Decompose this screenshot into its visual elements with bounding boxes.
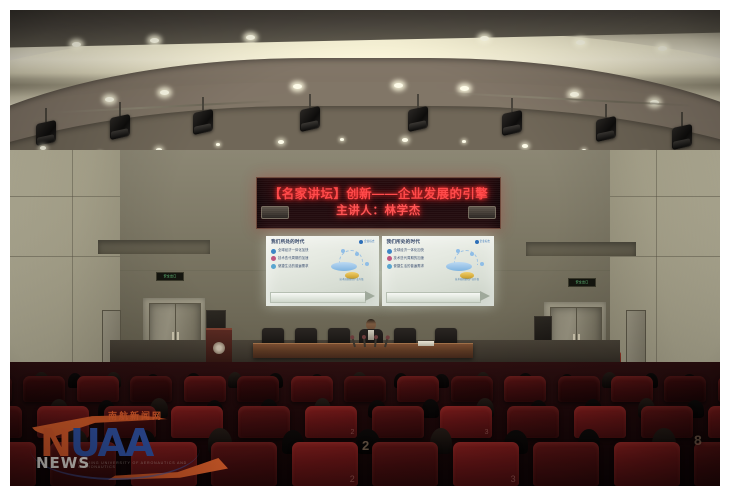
downlight-icon — [216, 143, 220, 146]
downlight-icon — [150, 38, 159, 43]
slide-diagram: 技术创新驱动产业升级 — [329, 248, 373, 282]
slide-logo-label: 企业标志 — [364, 241, 374, 244]
downlight-icon — [72, 42, 81, 47]
downlight-icon — [460, 86, 469, 91]
seat-number: 3 — [511, 475, 516, 484]
aisle-marker-right: 8 — [694, 432, 702, 448]
diagram-node — [470, 252, 474, 256]
seat[interactable] — [211, 442, 277, 486]
podium-emblem-icon — [213, 342, 225, 354]
bullet-text: 全球经济一体化加快 — [394, 249, 425, 252]
exit-sign-left: 安全出口 — [156, 272, 184, 281]
exit-sign-label: 安全出口 — [164, 275, 177, 278]
microphone-icon — [351, 337, 355, 347]
wall-seam — [600, 196, 720, 197]
diagram-ellipse — [446, 262, 472, 271]
bullet-icon — [271, 256, 276, 261]
spotlight-rod — [309, 94, 311, 108]
diagram-caption: 技术创新驱动产业升级 — [450, 278, 484, 281]
microphone-icon — [374, 337, 377, 347]
seat[interactable] — [694, 442, 720, 486]
downlight-icon — [246, 35, 255, 40]
bullet-text: 技术迭代周期的加速 — [394, 257, 425, 260]
arrow-shaft — [270, 292, 366, 303]
stage-spotlight — [36, 120, 56, 146]
ceiling — [10, 10, 720, 160]
logo-dot-icon — [475, 240, 479, 244]
downlight-icon — [105, 97, 114, 102]
diagram-node — [365, 262, 369, 266]
projection-screen-right: 我们所处的时代 企业标志 全球经济一体化加快 技术迭代周期的加速 — [382, 236, 495, 306]
downlight-icon — [462, 140, 466, 143]
banner-projector-right-icon — [468, 206, 496, 219]
wall-seam — [72, 150, 73, 380]
wall-recess-right — [526, 242, 636, 256]
photo-frame: 【名家讲坛】创新——企业发展的引擎 主讲人：林学杰 我们所处的时代 企业标志 全… — [0, 0, 730, 496]
seat[interactable] — [50, 442, 116, 486]
seat[interactable] — [131, 442, 197, 486]
downlight-icon — [340, 138, 344, 141]
aisle-marker-center: 2 — [362, 438, 369, 453]
stage-spotlight — [596, 116, 616, 142]
spotlight-rod — [605, 104, 607, 118]
led-banner-speaker: 主讲人：林学杰 — [336, 204, 421, 219]
downlight-icon — [570, 92, 579, 97]
wall-seam — [10, 256, 130, 257]
downlight-icon — [522, 144, 528, 148]
downlight-icon — [278, 140, 284, 144]
stage-spotlight — [502, 110, 522, 136]
led-banner: 【名家讲坛】创新——企业发展的引擎 主讲人：林学杰 — [256, 177, 501, 229]
bullet-text: 便捷生活的普遍需求 — [278, 265, 309, 268]
bullet-icon — [387, 264, 392, 269]
diagram-node — [355, 252, 359, 256]
downlight-icon — [402, 138, 408, 142]
seat[interactable]: 2 — [292, 442, 358, 486]
slide-title: 我们所处的时代 — [271, 240, 374, 245]
arrow-head-icon — [365, 291, 375, 301]
bullet-text: 便捷生活的普遍需求 — [394, 265, 425, 268]
wall-seam — [10, 196, 130, 197]
bullet-icon — [271, 249, 276, 254]
projection-screen-left: 我们所处的时代 企业标志 全球经济一体化加快 技术迭代周期的加速 — [266, 236, 379, 306]
spotlight-rod — [119, 102, 121, 116]
slide-logo-label: 企业标志 — [480, 241, 490, 244]
wall-recess-left — [98, 240, 210, 254]
microphone-cluster — [350, 335, 392, 347]
stage-spotlight — [672, 124, 692, 150]
spotlight-rod — [202, 97, 204, 111]
auditorium-photo: 【名家讲坛】创新——企业发展的引擎 主讲人：林学杰 我们所处的时代 企业标志 全… — [10, 10, 720, 486]
bullet-icon — [387, 249, 392, 254]
downlight-icon — [293, 84, 302, 89]
table-nameplate — [418, 341, 434, 346]
downlight-icon — [480, 36, 489, 41]
diagram-ellipse — [331, 262, 357, 271]
arrow-head-icon — [480, 291, 490, 301]
diagram-caption: 技术创新驱动产业升级 — [335, 278, 369, 281]
downlight-icon — [394, 83, 403, 88]
seat-number: 2 — [350, 475, 355, 484]
stage-spotlight — [110, 114, 130, 140]
slide-arrow-bar — [270, 291, 375, 302]
bullet-text: 全球经济一体化加快 — [278, 249, 309, 252]
bullet-text: 技术迭代周期的加速 — [278, 257, 309, 260]
wall-seam — [600, 256, 720, 257]
slide-logo: 企业标志 — [359, 240, 374, 244]
slide-arrow-bar — [386, 291, 491, 302]
projection-screens: 我们所处的时代 企业标志 全球经济一体化加快 技术迭代周期的加速 — [266, 236, 494, 306]
exit-sign-right: 安全出口 — [568, 278, 596, 287]
bullet-icon — [271, 264, 276, 269]
logo-dot-icon — [359, 240, 363, 244]
spotlight-rod — [681, 112, 683, 126]
bullet-icon — [387, 256, 392, 261]
spotlight-rod — [417, 94, 419, 108]
banner-projector-left-icon — [261, 206, 289, 219]
exit-sign-label: 安全出口 — [576, 281, 589, 284]
spotlight-rod — [511, 98, 513, 112]
auditorium-seating: 2 3 — [10, 362, 720, 486]
diagram-node — [341, 249, 345, 253]
downlight-icon — [576, 40, 585, 45]
stage-spotlight — [300, 106, 320, 132]
arrow-shaft — [386, 292, 482, 303]
slide-diagram: 技术创新驱动产业升级 — [444, 248, 488, 282]
microphone-icon — [363, 337, 366, 347]
seat[interactable]: 3 — [453, 442, 519, 486]
diagram-node — [480, 262, 484, 266]
slide-title: 我们所处的时代 — [387, 240, 490, 245]
seat[interactable] — [10, 442, 36, 486]
wall-seam — [656, 150, 657, 380]
seat[interactable] — [614, 442, 680, 486]
slide-logo: 企业标志 — [475, 240, 490, 244]
microphone-icon — [384, 337, 388, 347]
diagram-node — [456, 249, 460, 253]
downlight-icon — [160, 90, 169, 95]
seat[interactable] — [372, 442, 438, 486]
downlight-icon — [40, 146, 46, 150]
led-banner-title: 【名家讲坛】创新——企业发展的引擎 — [269, 187, 488, 203]
stage-spotlight — [408, 106, 428, 132]
downlight-icon — [658, 46, 667, 51]
stage-spotlight — [193, 109, 213, 135]
spotlight-rod — [45, 108, 47, 122]
seat[interactable] — [533, 442, 599, 486]
